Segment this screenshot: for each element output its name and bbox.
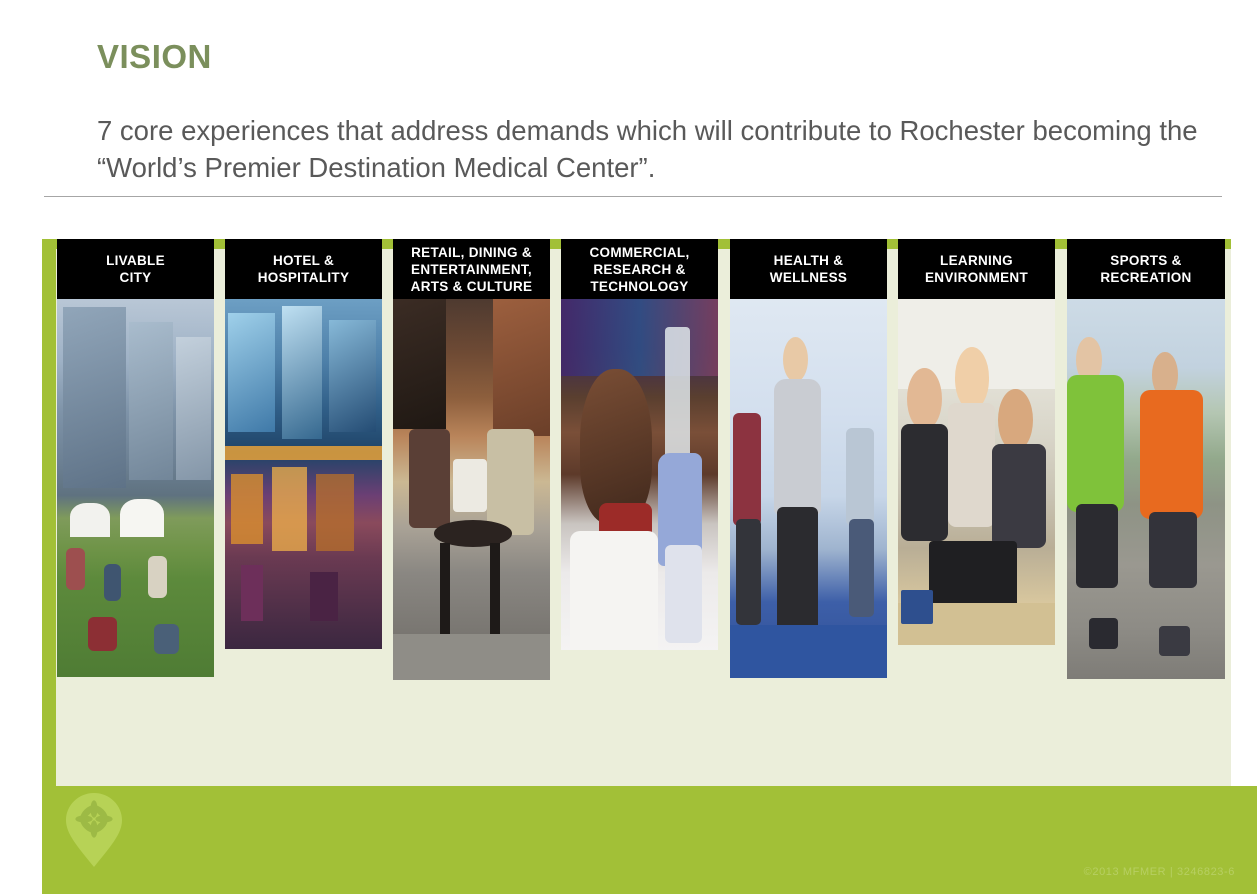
photo-sports-recreation: [1067, 299, 1225, 679]
photo-livable-city: [57, 299, 214, 677]
experience-columns: LIVABLE CITY HOTEL &: [42, 239, 1231, 786]
column-label-hotel-hospitality: HOTEL & HOSPITALITY: [258, 252, 350, 286]
footer-bar: ©2013 MFMER | 3246823-6: [42, 786, 1257, 894]
column-header-retail-dining: RETAIL, DINING & ENTERTAINMENT, ARTS & C…: [393, 239, 550, 299]
column-image-livable-city: [57, 299, 214, 677]
slide: VISION 7 core experiences that address d…: [0, 0, 1257, 894]
column-label-livable-city: LIVABLE CITY: [106, 252, 165, 286]
column-header-hotel-hospitality: HOTEL & HOSPITALITY: [225, 239, 382, 299]
column-label-retail-dining: RETAIL, DINING & ENTERTAINMENT, ARTS & C…: [411, 244, 533, 295]
column-image-learning-environment: [898, 299, 1055, 645]
photo-commercial-research: [561, 299, 718, 650]
column-image-sports-recreation: [1067, 299, 1225, 679]
column-header-learning-environment: LEARNING ENVIRONMENT: [898, 239, 1055, 299]
title-divider: [44, 196, 1222, 197]
column-label-learning-environment: LEARNING ENVIRONMENT: [925, 252, 1028, 286]
column-header-health-wellness: HEALTH & WELLNESS: [730, 239, 887, 299]
photo-hotel-hospitality: [225, 299, 382, 649]
column-header-livable-city: LIVABLE CITY: [57, 239, 214, 299]
page-title: VISION: [97, 38, 212, 76]
column-image-health-wellness: [730, 299, 887, 678]
photo-health-wellness: [730, 299, 887, 678]
column-label-health-wellness: HEALTH & WELLNESS: [770, 252, 847, 286]
column-label-commercial-research: COMMERCIAL, RESEARCH & TECHNOLOGY: [589, 244, 689, 295]
copyright-text: ©2013 MFMER | 3246823-6: [1084, 866, 1235, 878]
column-header-commercial-research: COMMERCIAL, RESEARCH & TECHNOLOGY: [561, 239, 718, 299]
column-label-sports-recreation: SPORTS & RECREATION: [1100, 252, 1191, 286]
mayo-clinic-pin-logo: [64, 791, 124, 869]
column-header-sports-recreation: SPORTS & RECREATION: [1067, 239, 1225, 299]
photo-learning-environment: [898, 299, 1055, 645]
photo-retail-dining: [393, 299, 550, 680]
column-image-hotel-hospitality: [225, 299, 382, 649]
column-image-retail-dining: [393, 299, 550, 680]
column-image-commercial-research: [561, 299, 718, 650]
slide-subtitle: 7 core experiences that address demands …: [97, 112, 1227, 186]
